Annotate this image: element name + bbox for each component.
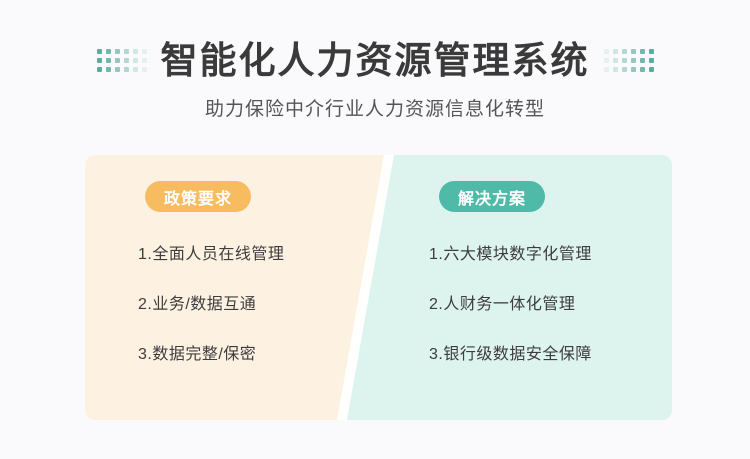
- dot: [124, 67, 129, 72]
- dot: [115, 58, 120, 63]
- page-subtitle: 助力保险中介行业人力资源信息化转型: [0, 100, 750, 119]
- dot: [133, 58, 138, 63]
- panel-policy-requirements: 政策要求 1.全面人员在线管理 2.业务/数据互通 3.数据完整/保密: [85, 155, 385, 420]
- header: 智能化人力资源管理系统 助力保险中介行业人力资源信息化转型: [0, 0, 750, 140]
- dot: [622, 67, 627, 72]
- list-item: 3.银行级数据安全保障: [429, 347, 592, 363]
- dot: [97, 58, 102, 63]
- dot: [133, 49, 138, 54]
- dot: [649, 67, 654, 72]
- list-item: 2.业务/数据互通: [138, 297, 284, 313]
- badge-policy-requirements: 政策要求: [145, 181, 251, 212]
- dot: [640, 49, 645, 54]
- dot: [124, 49, 129, 54]
- dot: [604, 49, 609, 54]
- list-item: 1.六大模块数字化管理: [429, 247, 592, 263]
- dot: [142, 67, 147, 72]
- dot: [622, 58, 627, 63]
- comparison-panels: 政策要求 1.全面人员在线管理 2.业务/数据互通 3.数据完整/保密 解决方案…: [85, 155, 672, 420]
- list-item: 2.人财务一体化管理: [429, 297, 592, 313]
- dot: [622, 49, 627, 54]
- dot: [106, 49, 111, 54]
- dot: [640, 67, 645, 72]
- list-item: 3.数据完整/保密: [138, 347, 284, 363]
- dot: [649, 49, 654, 54]
- title-row: 智能化人力资源管理系统: [0, 34, 750, 86]
- dot: [97, 49, 102, 54]
- dot-grid-icon-left: [97, 49, 147, 72]
- dot: [115, 49, 120, 54]
- solution-list: 1.六大模块数字化管理 2.人财务一体化管理 3.银行级数据安全保障: [429, 247, 592, 363]
- dot: [631, 49, 636, 54]
- policy-requirements-list: 1.全面人员在线管理 2.业务/数据互通 3.数据完整/保密: [138, 247, 284, 363]
- dot: [106, 67, 111, 72]
- dot: [133, 67, 138, 72]
- page-title: 智能化人力资源管理系统: [161, 42, 590, 79]
- dot: [631, 58, 636, 63]
- list-item: 1.全面人员在线管理: [138, 247, 284, 263]
- dot: [142, 49, 147, 54]
- dot: [640, 58, 645, 63]
- dot: [124, 58, 129, 63]
- dot: [142, 58, 147, 63]
- dot: [604, 67, 609, 72]
- dot: [613, 67, 618, 72]
- dot: [97, 67, 102, 72]
- dot: [604, 58, 609, 63]
- panel-solution: 解决方案 1.六大模块数字化管理 2.人财务一体化管理 3.银行级数据安全保障: [385, 155, 672, 420]
- dot: [649, 58, 654, 63]
- dot: [106, 58, 111, 63]
- dot: [115, 67, 120, 72]
- dot: [613, 49, 618, 54]
- dot: [613, 58, 618, 63]
- dot-grid-icon-right: [604, 49, 654, 72]
- dot: [631, 67, 636, 72]
- badge-solution: 解决方案: [439, 181, 545, 212]
